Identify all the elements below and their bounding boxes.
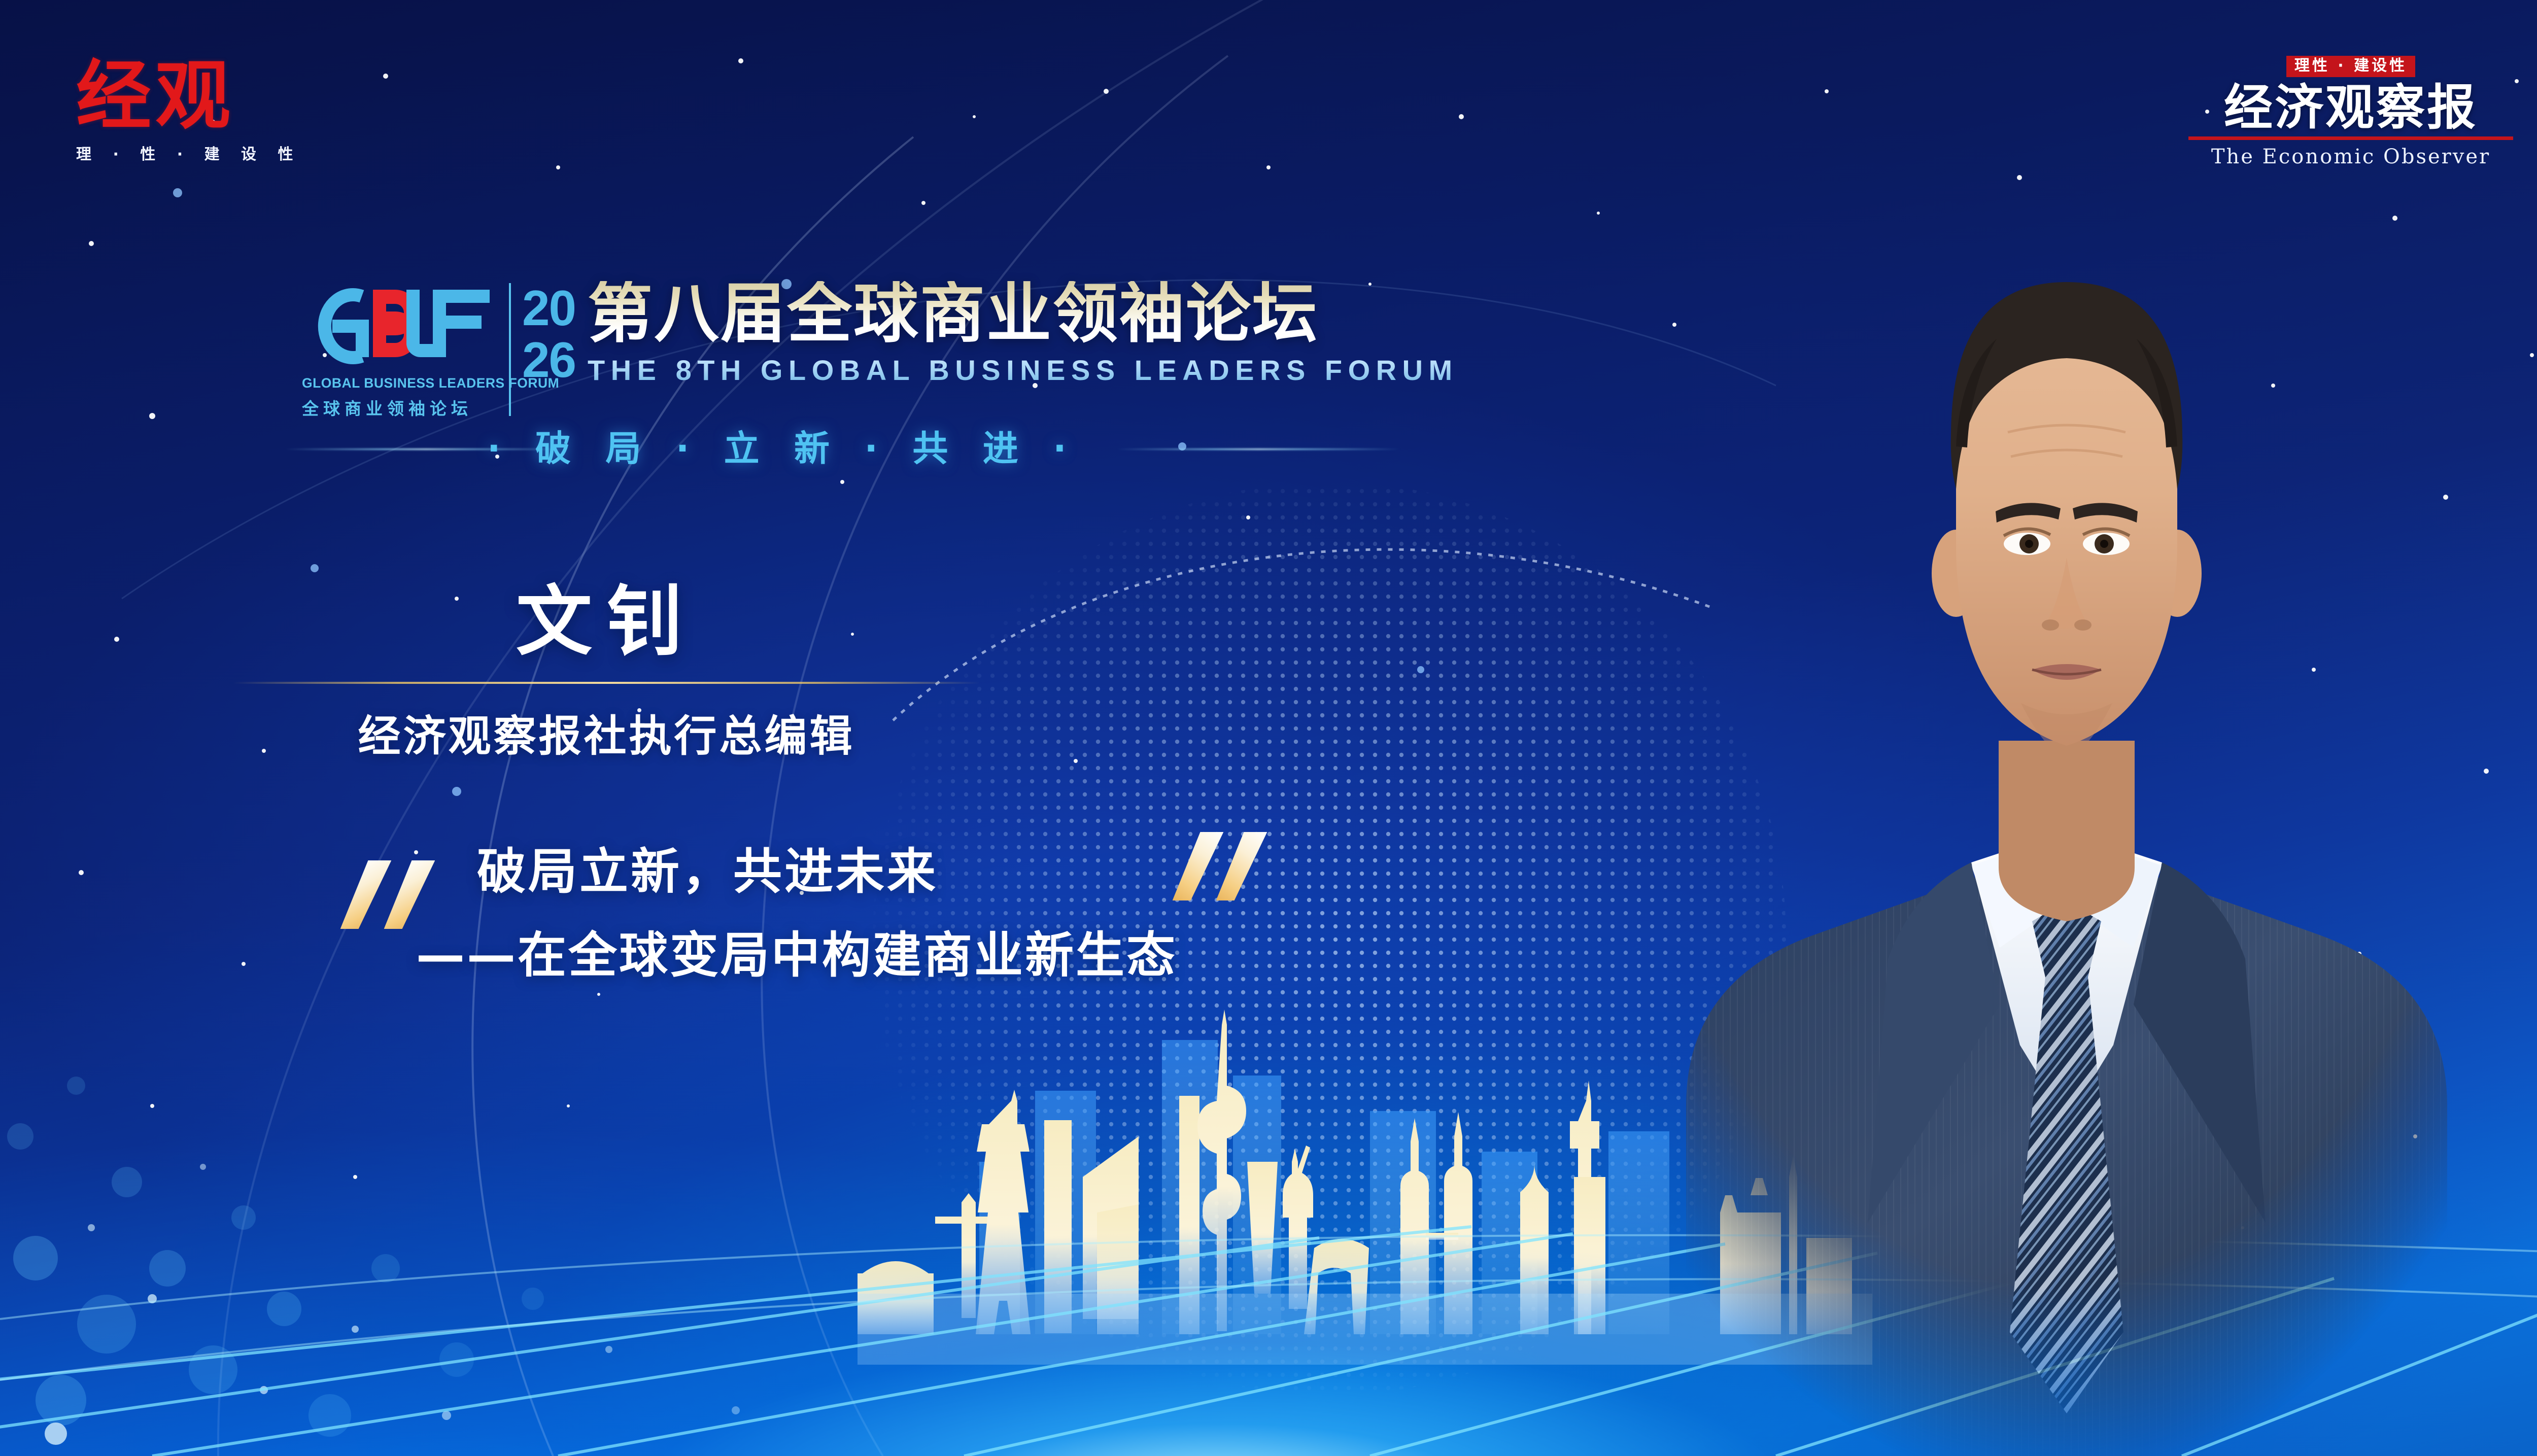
gblf-monogram-svg — [302, 280, 500, 372]
eo-short-logo-name: 经观 — [76, 58, 315, 133]
speaker-name: 文钊 — [231, 583, 982, 660]
event-speaker-poster: 经观 理 · 性 · 建 设 性 理性 · 建设性 经济观察报 The Econ… — [0, 0, 2537, 1456]
forum-title-en: THE 8TH GLOBAL BUSINESS LEADERS FORUM — [588, 354, 1458, 387]
forum-tagline-row: · 破 局 · 立 新 · 共 进 · — [487, 420, 1197, 471]
forum-titles: 第八届全球商业领袖论坛 THE 8TH GLOBAL BUSINESS LEAD… — [588, 281, 1458, 387]
forum-year-top: 20 — [522, 284, 575, 332]
forum-title-cn: 第八届全球商业领袖论坛 — [588, 281, 1458, 348]
quote-close-mark-icon — [1182, 832, 1268, 900]
forum-year-bottom: 26 — [522, 336, 575, 384]
eo-masthead-rule — [2188, 136, 2513, 140]
quote-line-2: ——在全球变局中构建商业新生态 — [416, 916, 1365, 986]
gblf-monogram — [302, 280, 500, 372]
eo-masthead-english: The Economic Observer — [2188, 145, 2513, 168]
gblf-logo: GLOBAL BUSINESS LEADERS FORUM 全球商业领袖论坛 — [302, 280, 500, 420]
eo-short-logo: 经观 理 · 性 · 建 设 性 — [76, 58, 315, 164]
forum-year: 20 26 — [522, 280, 575, 384]
speaker-title: 经济观察报社执行总编辑 — [231, 702, 982, 764]
gblf-subtitle-en: GLOBAL BUSINESS LEADERS FORUM — [302, 375, 500, 391]
eo-short-logo-slogan: 理 · 性 · 建 设 性 — [76, 142, 315, 164]
quote-open-mark-icon — [350, 860, 436, 929]
speaker-gold-divider — [233, 682, 979, 684]
lockup-divider — [509, 283, 511, 416]
forum-tagline: · 破 局 · 立 新 · 共 进 · — [487, 420, 1078, 471]
eo-masthead-tag: 理性 · 建设性 — [2286, 56, 2415, 77]
gblf-subtitle-cn: 全球商业领袖论坛 — [302, 395, 500, 420]
speaker-portrait — [1595, 0, 2508, 1456]
forum-lockup: GLOBAL BUSINESS LEADERS FORUM 全球商业领袖论坛 2… — [302, 280, 1458, 420]
eo-masthead-name: 经济观察报 — [2188, 82, 2513, 133]
speaker-block: 文钊 经济观察报社执行总编辑 — [231, 583, 982, 764]
eo-masthead-logo: 理性 · 建设性 经济观察报 The Economic Observer — [2188, 56, 2513, 168]
quote-block: 破局立新，共进未来 ——在全球变局中构建商业新生态 — [350, 832, 1365, 986]
